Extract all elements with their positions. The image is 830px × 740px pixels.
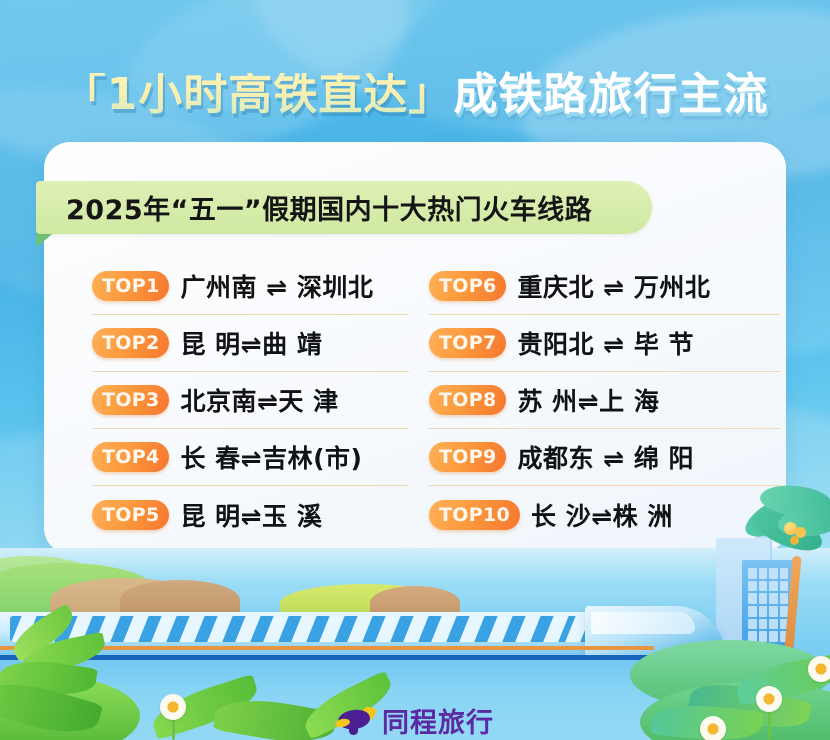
rank-badge: TOP5 [92, 500, 169, 530]
list-item[interactable]: TOP7 贵阳北 ⇌ 毕 节 [429, 315, 780, 372]
list-item[interactable]: TOP3 北京南⇌天 津 [92, 372, 409, 429]
list-item[interactable]: TOP2 昆 明⇌曲 靖 [92, 315, 409, 372]
rank-badge: TOP6 [429, 271, 506, 301]
list-item[interactable]: TOP4 长 春⇌吉林(市) [92, 429, 409, 486]
route-label: 昆 明⇌玉 溪 [180, 497, 322, 533]
route-label: 苏 州⇌上 海 [517, 382, 659, 418]
title-highlight-text: 「1小时高铁直达」 [62, 73, 454, 117]
title-rest-text: 成铁路旅行主流 [453, 73, 768, 117]
poster-title: 「1小时高铁直达」成铁路旅行主流 [0, 64, 830, 126]
list-item[interactable]: TOP10 长 沙⇌株 洲 [429, 486, 780, 543]
poster-canvas: 「1小时高铁直达」成铁路旅行主流 2025年“五一”假期国内十大热门火车线路 T… [0, 0, 830, 740]
section-ribbon: 2025年“五一”假期国内十大热门火车线路 [36, 181, 652, 234]
list-item[interactable]: TOP8 苏 州⇌上 海 [429, 372, 780, 429]
list-item[interactable]: TOP6 重庆北 ⇌ 万州北 [429, 258, 780, 315]
rank-badge: TOP1 [92, 271, 169, 301]
list-item[interactable]: TOP1 广州南 ⇌ 深圳北 [92, 258, 409, 315]
building-windows [748, 568, 788, 642]
rank-badge: TOP10 [429, 500, 520, 530]
route-column-left: TOP1 广州南 ⇌ 深圳北 TOP2 昆 明⇌曲 靖 TOP3 北京南⇌天 津… [44, 258, 415, 548]
coconut-icon [784, 522, 797, 535]
rank-badge: TOP9 [429, 442, 506, 472]
route-column-right: TOP6 重庆北 ⇌ 万州北 TOP7 贵阳北 ⇌ 毕 节 TOP8 苏 州⇌上… [415, 258, 786, 548]
route-label: 长 春⇌吉林(市) [180, 439, 362, 475]
route-label: 广州南 ⇌ 深圳北 [180, 268, 373, 304]
rank-badge: TOP4 [92, 442, 169, 472]
route-label: 重庆北 ⇌ 万州北 [517, 268, 710, 304]
list-item[interactable]: TOP5 昆 明⇌玉 溪 [92, 486, 409, 543]
ribbon-label: 2025年“五一”假期国内十大热门火车线路 [66, 188, 592, 227]
route-label: 昆 明⇌曲 靖 [180, 325, 322, 361]
list-item[interactable]: TOP9 成都东 ⇌ 绵 阳 [429, 429, 780, 486]
route-list: TOP1 广州南 ⇌ 深圳北 TOP2 昆 明⇌曲 靖 TOP3 北京南⇌天 津… [44, 258, 786, 548]
rank-badge: TOP3 [92, 385, 169, 415]
blimp-logo-icon [336, 708, 374, 732]
rank-badge: TOP7 [429, 328, 506, 358]
route-label: 成都东 ⇌ 绵 阳 [517, 439, 694, 475]
flower-icon [808, 656, 830, 682]
route-label: 北京南⇌天 津 [180, 382, 338, 418]
rank-badge: TOP8 [429, 385, 506, 415]
route-label: 贵阳北 ⇌ 毕 节 [517, 325, 694, 361]
footer-brand: 同程旅行 [0, 700, 830, 740]
route-label: 长 沙⇌株 洲 [531, 497, 673, 533]
brand-name: 同程旅行 [382, 701, 494, 740]
rank-badge: TOP2 [92, 328, 169, 358]
